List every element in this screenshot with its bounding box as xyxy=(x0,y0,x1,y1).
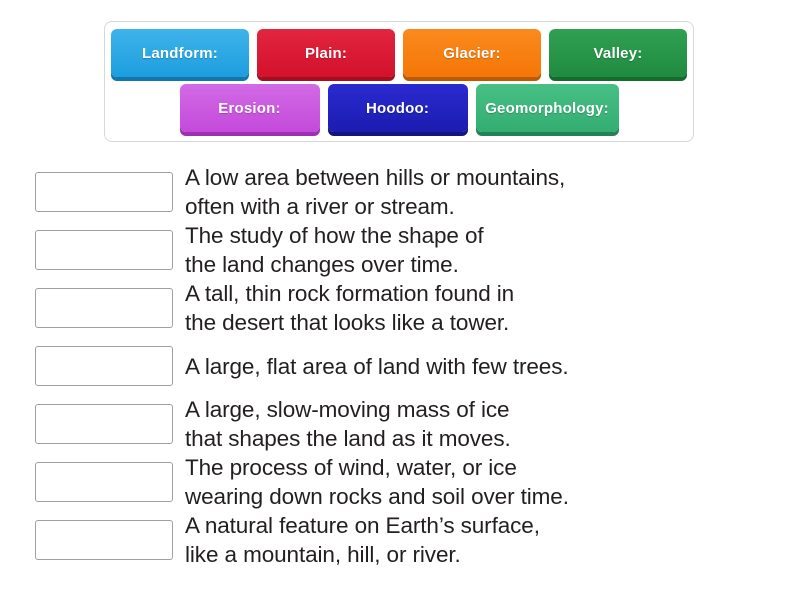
tile-row-1: Landform: Plain: Glacier: Valley: xyxy=(111,29,687,77)
question-text: A low area between hills or mountains, o… xyxy=(185,163,565,221)
tile-landform[interactable]: Landform: xyxy=(111,29,249,77)
question-row: A natural feature on Earth’s surface, li… xyxy=(0,511,800,569)
answer-drop-box[interactable] xyxy=(35,462,173,502)
question-row: A large, slow-moving mass of ice that sh… xyxy=(0,395,800,453)
word-tile-tray: Landform: Plain: Glacier: Valley: Erosio… xyxy=(104,21,694,142)
answer-drop-box[interactable] xyxy=(35,520,173,560)
tile-label: Valley: xyxy=(594,45,643,62)
question-row: A large, flat area of land with few tree… xyxy=(0,337,800,395)
tile-valley[interactable]: Valley: xyxy=(549,29,687,77)
tile-label: Geomorphology: xyxy=(485,100,609,117)
tile-label: Landform: xyxy=(142,45,218,62)
answer-drop-box[interactable] xyxy=(35,346,173,386)
tile-hoodoo[interactable]: Hoodoo: xyxy=(328,84,468,132)
tile-label: Hoodoo: xyxy=(366,100,429,117)
question-row: A low area between hills or mountains, o… xyxy=(0,163,800,221)
question-text: The study of how the shape of the land c… xyxy=(185,221,484,279)
question-text: A tall, thin rock formation found in the… xyxy=(185,279,514,337)
answer-drop-box[interactable] xyxy=(35,288,173,328)
tile-label: Erosion: xyxy=(218,100,280,117)
tile-plain[interactable]: Plain: xyxy=(257,29,395,77)
question-row: A tall, thin rock formation found in the… xyxy=(0,279,800,337)
question-text: A large, slow-moving mass of ice that sh… xyxy=(185,395,511,453)
question-list: A low area between hills or mountains, o… xyxy=(0,163,800,569)
answer-drop-box[interactable] xyxy=(35,404,173,444)
question-text: The process of wind, water, or ice weari… xyxy=(185,453,569,511)
tile-erosion[interactable]: Erosion: xyxy=(180,84,320,132)
question-text: A large, flat area of land with few tree… xyxy=(185,352,569,381)
tile-label: Glacier: xyxy=(443,45,500,62)
tile-glacier[interactable]: Glacier: xyxy=(403,29,541,77)
tile-label: Plain: xyxy=(305,45,347,62)
question-row: The study of how the shape of the land c… xyxy=(0,221,800,279)
question-text: A natural feature on Earth’s surface, li… xyxy=(185,511,540,569)
tile-row-2: Erosion: Hoodoo: Geomorphology: xyxy=(111,84,687,132)
answer-drop-box[interactable] xyxy=(35,230,173,270)
tile-geomorphology[interactable]: Geomorphology: xyxy=(476,84,619,132)
question-row: The process of wind, water, or ice weari… xyxy=(0,453,800,511)
answer-drop-box[interactable] xyxy=(35,172,173,212)
